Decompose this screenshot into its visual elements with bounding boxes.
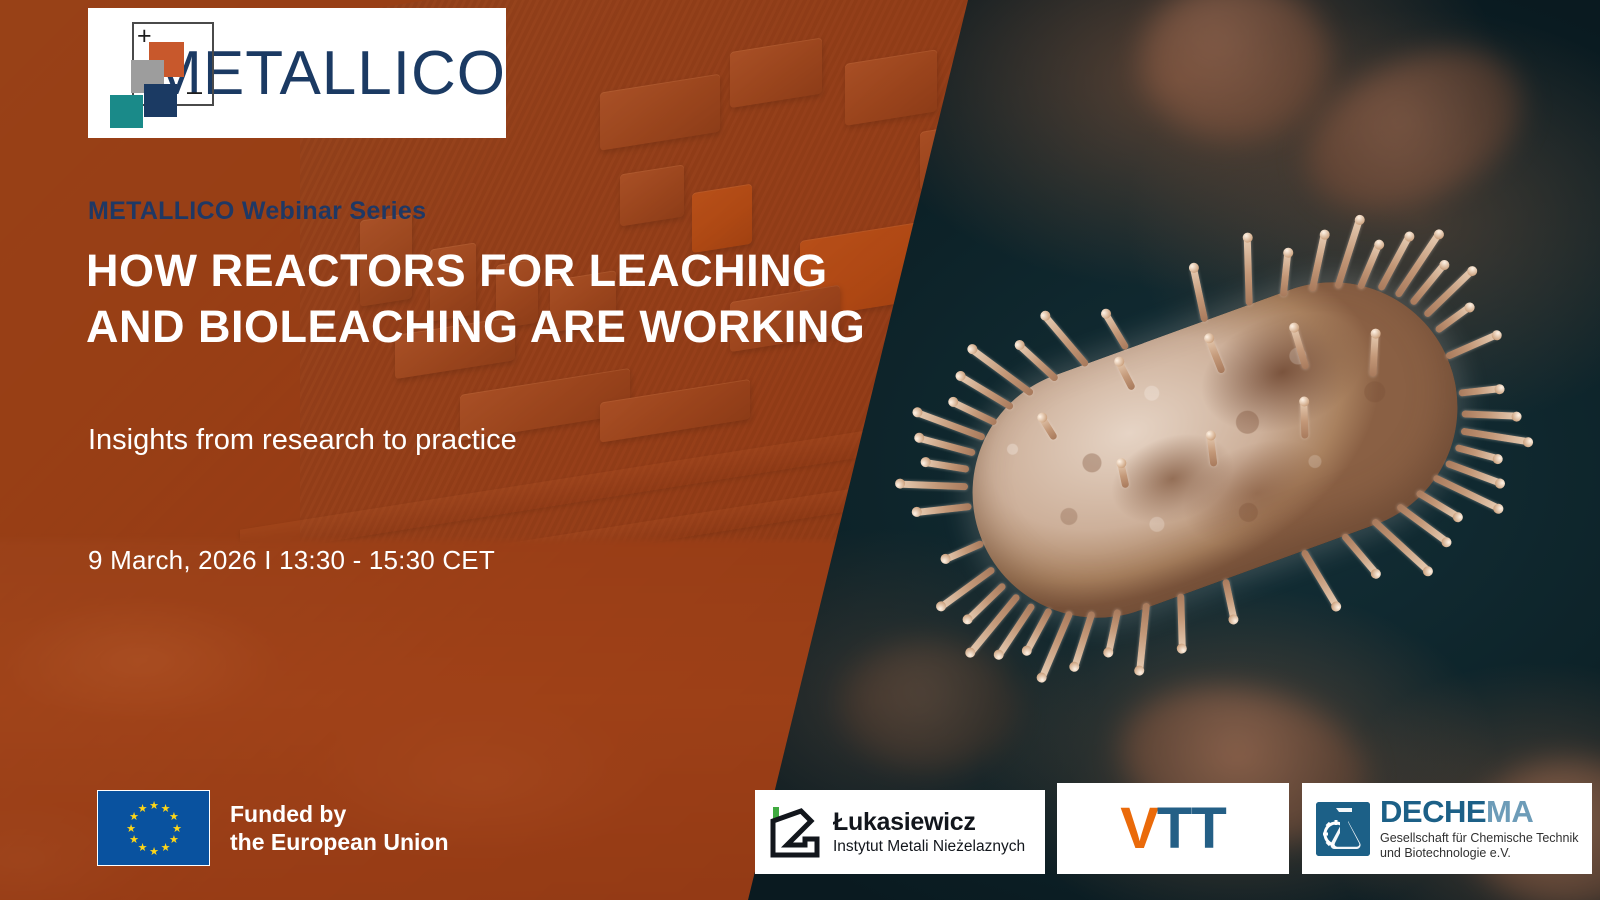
page-title: HOW REACTORS FOR LEACHING AND BIOLEACHIN… (86, 243, 886, 355)
eu-star-icon: ★ (168, 812, 179, 823)
eu-star-icon: ★ (137, 804, 148, 815)
lukasiewicz-subtitle: Instytut Metali Nieżelaznych (833, 839, 1025, 856)
dechema-subtitle: Gesellschaft für Chemische Technik und B… (1380, 831, 1578, 862)
metallico-logo[interactable]: + – METALLICO (88, 8, 506, 138)
dechema-subtitle-line-2: und Biotechnologie e.V. (1380, 846, 1578, 861)
partner-logo-vtt[interactable]: V TT (1057, 783, 1289, 874)
vtt-letters-tt: TT (1157, 795, 1226, 862)
eu-funding-block: ★★★★★★★★★★★★ Funded by the European Unio… (97, 790, 449, 866)
poster-content: + – METALLICO METALLICO Webinar Series H… (0, 0, 1600, 900)
navy-square-icon (144, 84, 177, 117)
eu-flag-icon: ★★★★★★★★★★★★ (97, 790, 210, 866)
eu-star-icon: ★ (149, 801, 160, 812)
event-datetime: 9 March, 2026 I 13:30 - 15:30 CET (88, 545, 495, 576)
eu-star-icon: ★ (172, 824, 183, 835)
dechema-subtitle-line-1: Gesellschaft für Chemische Technik (1380, 831, 1578, 846)
lukasiewicz-name: Łukasiewicz (833, 809, 1025, 836)
partner-logo-dechema[interactable]: DECHEMA Gesellschaft für Chemische Techn… (1302, 783, 1592, 874)
metallico-logo-mark: + – (94, 10, 154, 136)
eu-funding-line-2: the European Union (230, 828, 449, 856)
teal-square-icon (110, 95, 143, 128)
dechema-name: DECHEMA (1380, 796, 1578, 827)
eu-funding-text: Funded by the European Union (230, 800, 449, 856)
eu-star-icon: ★ (149, 847, 160, 858)
vtt-letter-v: V (1120, 795, 1157, 862)
series-eyebrow: METALLICO Webinar Series (88, 197, 426, 226)
eu-star-icon: ★ (126, 824, 137, 835)
eu-star-icon: ★ (160, 843, 171, 854)
dechema-name-light: MA (1486, 794, 1533, 829)
lukasiewicz-mark-icon (767, 805, 823, 859)
eu-funding-line-1: Funded by (230, 800, 449, 828)
dechema-name-dark: DECHE (1380, 794, 1486, 829)
eu-star-icon: ★ (129, 835, 140, 846)
minus-icon: – (187, 78, 202, 105)
partner-logo-lukasiewicz[interactable]: Łukasiewicz Instytut Metali Nieżelaznych (755, 790, 1045, 874)
subtitle: Insights from research to practice (88, 424, 517, 457)
webinar-announcement-poster: + – METALLICO METALLICO Webinar Series H… (0, 0, 1600, 900)
dechema-flask-gear-icon (1316, 802, 1370, 856)
